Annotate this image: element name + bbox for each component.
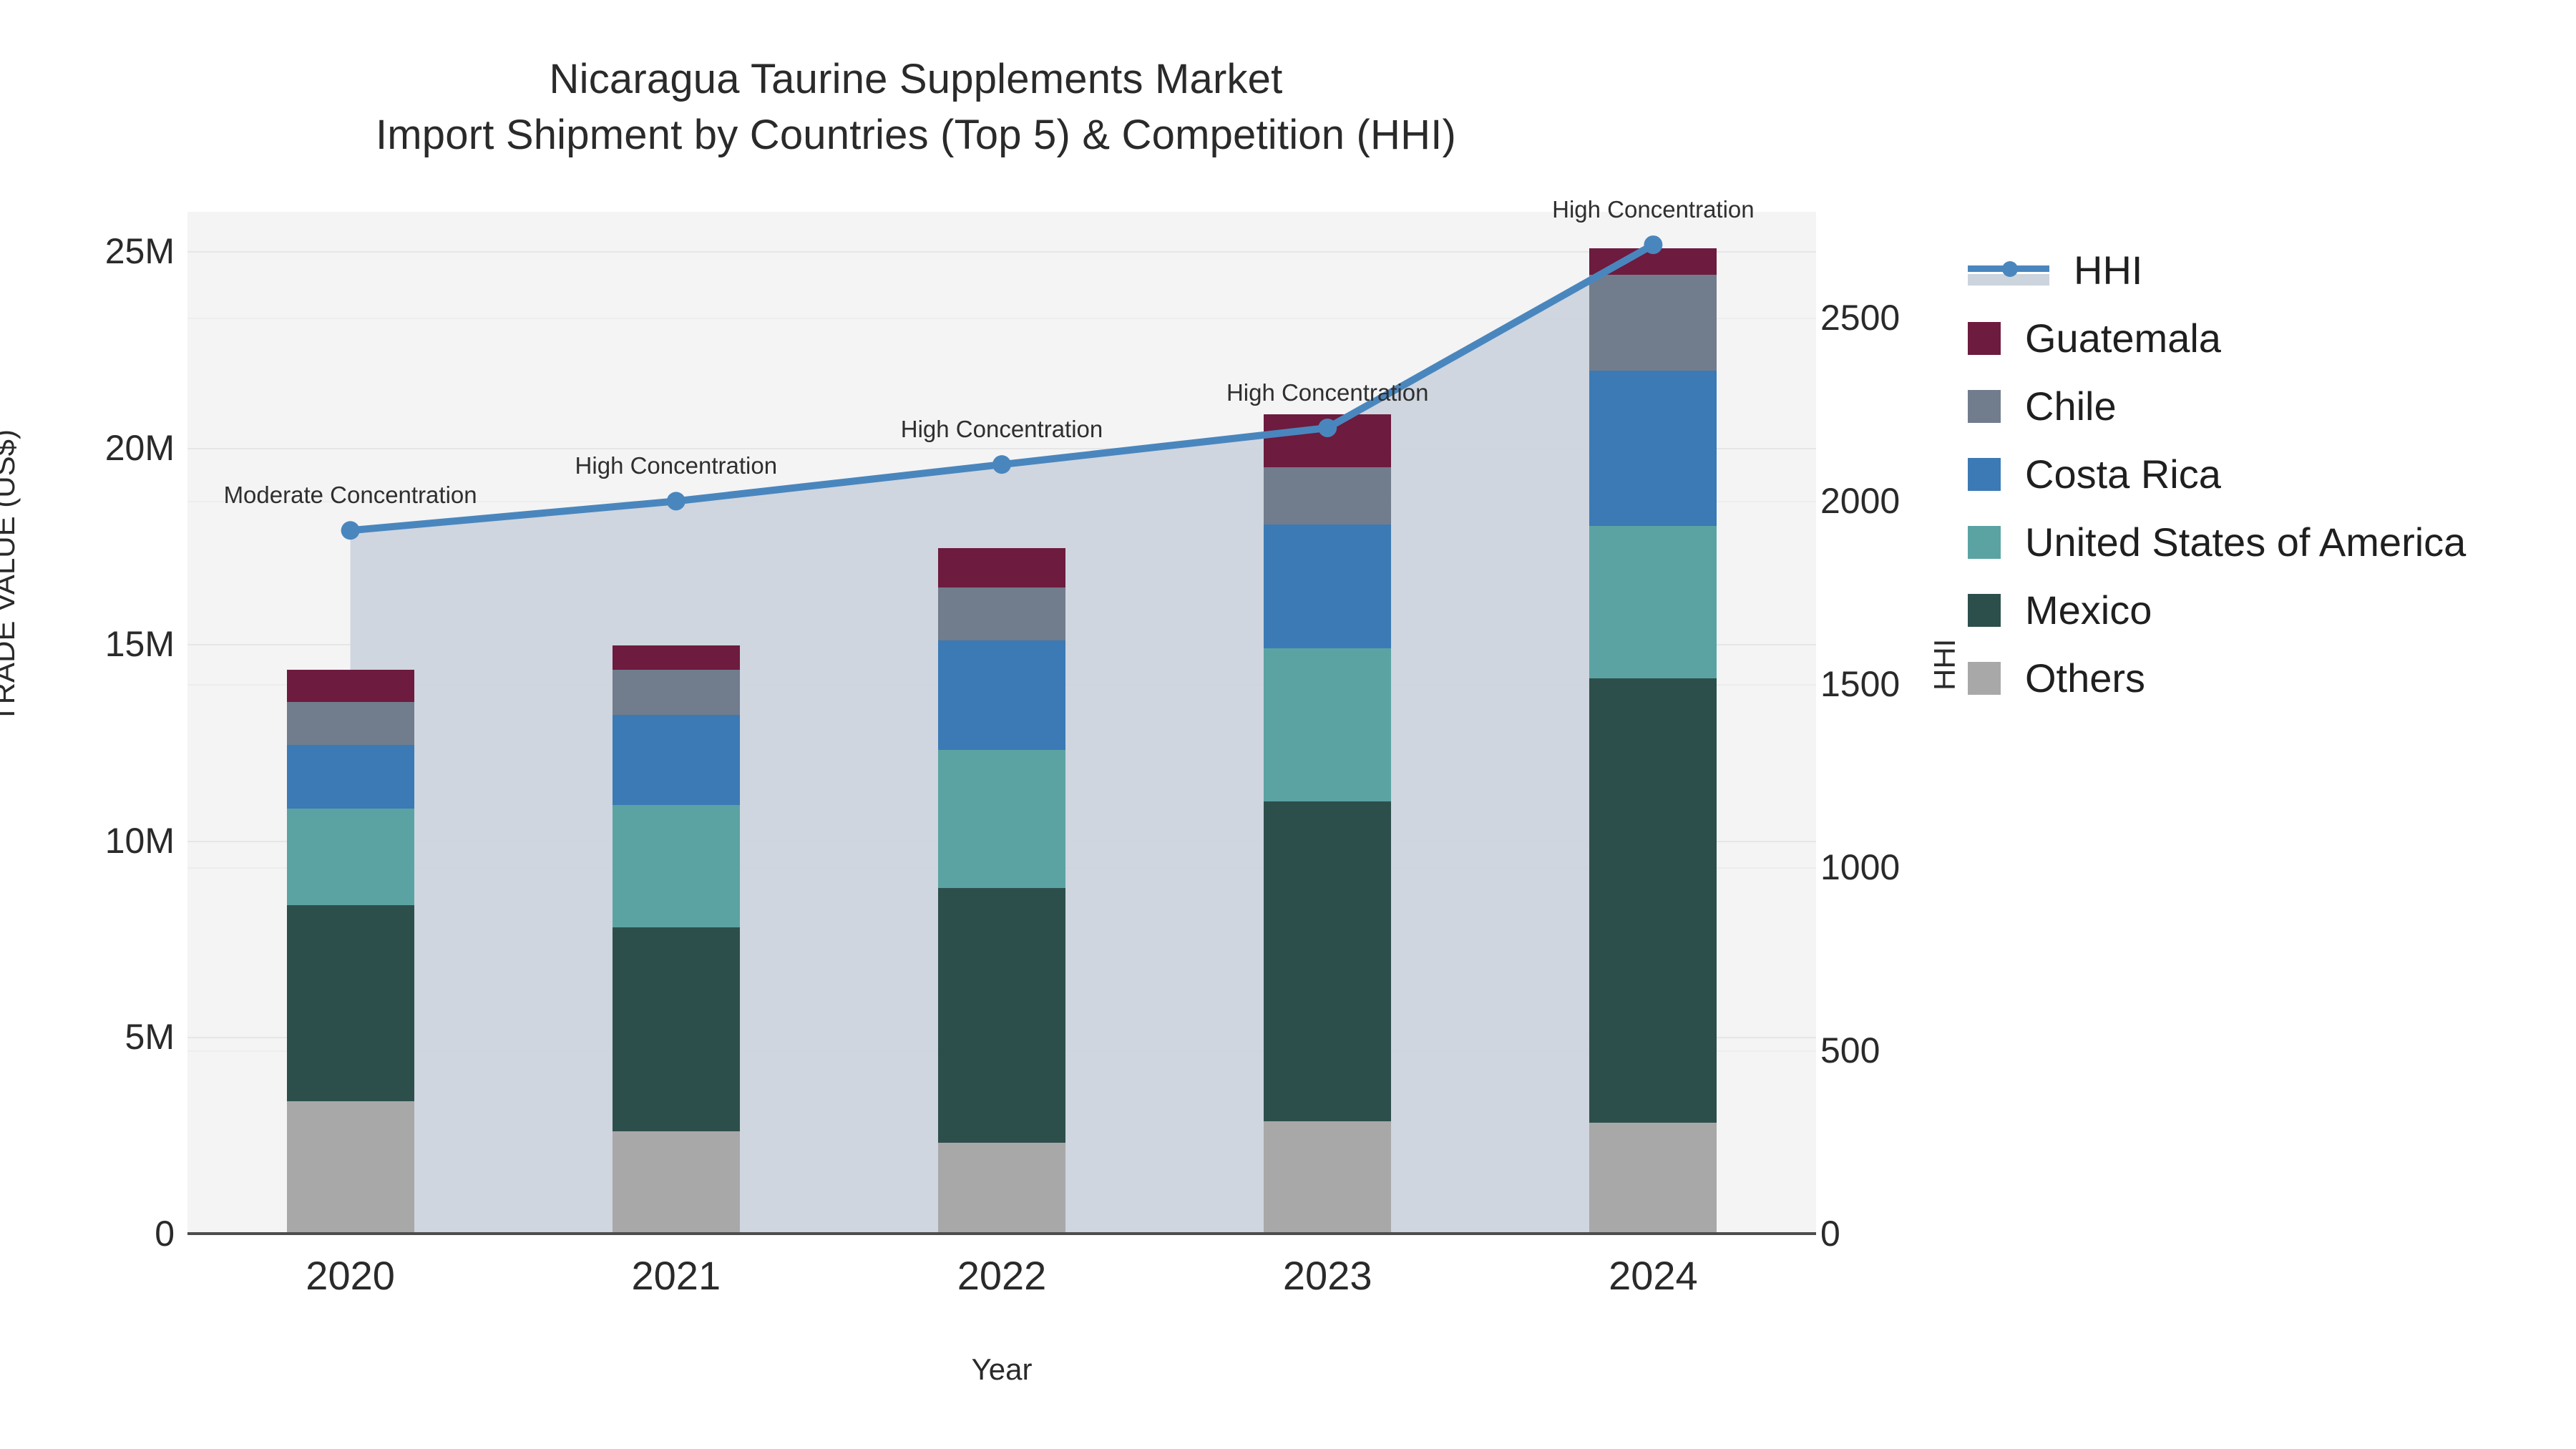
x-axis-label: Year bbox=[187, 1352, 1816, 1387]
y-axis-right-label: HHI bbox=[1928, 639, 1962, 691]
legend-swatch-icon bbox=[1968, 458, 2001, 491]
x-axis-line bbox=[187, 1232, 1816, 1235]
x-axis-tick-2021: 2021 bbox=[632, 1252, 721, 1299]
legend-item-guatemala[interactable]: Guatemala bbox=[1968, 304, 2562, 372]
hhi-line bbox=[351, 245, 1654, 530]
legend-item-mexico[interactable]: Mexico bbox=[1968, 576, 2562, 644]
y-axis-right-tick: 2500 bbox=[1820, 297, 1992, 338]
y-axis-left-tick: 20M bbox=[10, 427, 175, 469]
legend-swatch-icon bbox=[1968, 390, 2001, 423]
hhi-marker-2021[interactable] bbox=[667, 492, 686, 510]
annotation-2023: High Concentration bbox=[1226, 379, 1429, 406]
legend-item-others[interactable]: Others bbox=[1968, 644, 2562, 712]
chart-title-line-2: Import Shipment by Countries (Top 5) & C… bbox=[0, 107, 1832, 163]
y-axis-left-tick: 5M bbox=[10, 1016, 175, 1058]
legend-item-label: Others bbox=[2025, 655, 2145, 701]
hhi-marker-2022[interactable] bbox=[992, 455, 1011, 474]
legend-item-chile[interactable]: Chile bbox=[1968, 372, 2562, 440]
legend-item-label: HHI bbox=[2074, 247, 2142, 293]
legend-swatch-icon bbox=[1968, 594, 2001, 627]
annotation-2021: High Concentration bbox=[575, 452, 778, 479]
hhi-line-layer bbox=[187, 212, 1816, 1234]
legend-item-united-states-of-america[interactable]: United States of America bbox=[1968, 508, 2562, 576]
y-axis-left-tick: 10M bbox=[10, 820, 175, 862]
legend-item-label: United States of America bbox=[2025, 519, 2466, 565]
hhi-marker-2024[interactable] bbox=[1644, 235, 1662, 254]
legend-swatch-icon bbox=[1968, 322, 2001, 355]
x-axis-tick-2020: 2020 bbox=[306, 1252, 395, 1299]
legend-item-label: Costa Rica bbox=[2025, 451, 2221, 497]
annotation-2022: High Concentration bbox=[901, 416, 1103, 443]
legend-swatch-icon bbox=[1968, 526, 2001, 559]
chart-title-line-1: Nicaragua Taurine Supplements Market bbox=[550, 56, 1283, 102]
plot-area bbox=[187, 212, 1816, 1234]
legend-item-label: Chile bbox=[2025, 383, 2117, 429]
legend: HHIGuatemalaChileCosta RicaUnited States… bbox=[1968, 236, 2562, 712]
y-axis-right-tick: 0 bbox=[1820, 1213, 1992, 1254]
legend-item-hhi[interactable]: HHI bbox=[1968, 236, 2562, 304]
legend-item-costa-rica[interactable]: Costa Rica bbox=[1968, 440, 2562, 508]
y-axis-left-tick: 25M bbox=[10, 230, 175, 272]
hhi-marker-2020[interactable] bbox=[341, 521, 360, 540]
hhi-marker-2023[interactable] bbox=[1318, 419, 1337, 437]
y-axis-right-tick: 500 bbox=[1820, 1030, 1992, 1071]
legend-swatch-icon bbox=[1968, 662, 2001, 695]
annotation-2024: High Concentration bbox=[1552, 196, 1755, 223]
x-axis-tick-2024: 2024 bbox=[1609, 1252, 1698, 1299]
x-axis-tick-2022: 2022 bbox=[957, 1252, 1047, 1299]
legend-line-marker-icon bbox=[1968, 254, 2049, 287]
y-axis-left-label: TRADE VALUE (US$) bbox=[0, 429, 21, 723]
legend-item-label: Guatemala bbox=[2025, 315, 2221, 361]
y-axis-left-tick: 0 bbox=[10, 1213, 175, 1254]
chart-title: Nicaragua Taurine Supplements Market Imp… bbox=[0, 52, 1832, 162]
y-axis-right-tick: 1000 bbox=[1820, 847, 1992, 888]
y-axis-right-tick: 1500 bbox=[1820, 663, 1992, 705]
x-axis-tick-2023: 2023 bbox=[1283, 1252, 1372, 1299]
y-axis-right-tick: 2000 bbox=[1820, 480, 1992, 522]
y-axis-left-tick: 15M bbox=[10, 623, 175, 665]
legend-item-label: Mexico bbox=[2025, 587, 2152, 633]
annotation-2020: Moderate Concentration bbox=[224, 482, 477, 509]
